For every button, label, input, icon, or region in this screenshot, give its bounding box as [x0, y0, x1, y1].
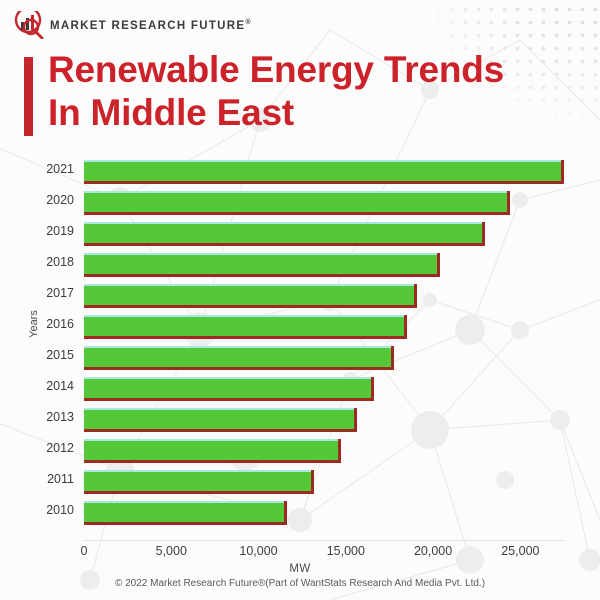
- y-tick-label-2013: 2013: [14, 410, 74, 424]
- bar-highlight-edge: [84, 160, 561, 162]
- bar-shadow-edge: [84, 398, 374, 401]
- bar-shadow-edge-right: [338, 439, 341, 463]
- bar-2011[interactable]: [84, 470, 311, 491]
- x-axis-line: [84, 540, 564, 541]
- bar-2015[interactable]: [84, 346, 391, 367]
- bar-fill: [84, 346, 391, 367]
- y-tick-label-2014: 2014: [14, 379, 74, 393]
- bar-highlight-edge: [84, 408, 354, 410]
- bar-2019[interactable]: [84, 222, 482, 243]
- brand-logo: MARKET RESEARCH FUTURE®: [14, 10, 252, 40]
- bar-highlight-edge: [84, 377, 371, 379]
- bar-fill: [84, 439, 338, 460]
- bar-shadow-edge-right: [391, 346, 394, 370]
- bar-shadow-edge: [84, 336, 407, 339]
- bar-2021[interactable]: [84, 160, 561, 181]
- bar-shadow-edge-right: [404, 315, 407, 339]
- copyright-footer: © 2022 Market Research Future®(Part of W…: [0, 578, 600, 589]
- y-tick-label-2010: 2010: [14, 503, 74, 517]
- registered-mark: ®: [245, 19, 251, 26]
- y-tick-label-2017: 2017: [14, 286, 74, 300]
- bar-shadow-edge-right: [414, 284, 417, 308]
- bar-fill: [84, 408, 354, 429]
- bar-highlight-edge: [84, 222, 482, 224]
- bar-highlight-edge: [84, 191, 507, 193]
- bar-shadow-edge: [84, 243, 485, 246]
- bar-shadow-edge-right: [371, 377, 374, 401]
- bar-shadow-edge: [84, 460, 341, 463]
- title-line-1: Renewable Energy Trends: [48, 48, 568, 91]
- bar-2012[interactable]: [84, 439, 338, 460]
- bar-shadow-edge: [84, 491, 314, 494]
- bar-shadow-edge-right: [482, 222, 485, 246]
- bar-2017[interactable]: [84, 284, 414, 305]
- bar-highlight-edge: [84, 501, 284, 503]
- bar-shadow-edge-right: [507, 191, 510, 215]
- x-tick-label-25000: 25,000: [480, 544, 560, 558]
- bar-highlight-edge: [84, 253, 437, 255]
- x-tick-label-5000: 5,000: [131, 544, 211, 558]
- x-tick-label-0: 0: [44, 544, 124, 558]
- bar-shadow-edge: [84, 274, 440, 277]
- y-tick-label-2012: 2012: [14, 441, 74, 455]
- y-tick-label-2011: 2011: [14, 472, 74, 486]
- bar-fill: [84, 315, 404, 336]
- bar-shadow-edge-right: [354, 408, 357, 432]
- bar-shadow-edge-right: [437, 253, 440, 277]
- y-tick-label-2016: 2016: [14, 317, 74, 331]
- bar-fill: [84, 284, 414, 305]
- bar-shadow-edge-right: [561, 160, 564, 184]
- title-accent-bar: [24, 57, 33, 136]
- x-tick-label-15000: 15,000: [306, 544, 386, 558]
- bar-2013[interactable]: [84, 408, 354, 429]
- y-tick-label-2021: 2021: [14, 162, 74, 176]
- bar-fill: [84, 377, 371, 398]
- brand-logo-name: MARKET RESEARCH FUTURE: [50, 19, 245, 31]
- bar-shadow-edge: [84, 212, 510, 215]
- y-tick-label-2015: 2015: [14, 348, 74, 362]
- bar-fill: [84, 222, 482, 243]
- bar-2018[interactable]: [84, 253, 437, 274]
- brand-logo-text: MARKET RESEARCH FUTURE®: [50, 19, 252, 32]
- bar-highlight-edge: [84, 470, 311, 472]
- bar-fill: [84, 253, 437, 274]
- bar-chart-magnifier-icon: [14, 11, 44, 39]
- bar-highlight-edge: [84, 315, 404, 317]
- y-tick-label-2018: 2018: [14, 255, 74, 269]
- bar-highlight-edge: [84, 346, 391, 348]
- bar-2010[interactable]: [84, 501, 284, 522]
- bar-highlight-edge: [84, 284, 414, 286]
- title-line-2: In Middle East: [48, 91, 568, 134]
- bar-shadow-edge: [84, 429, 357, 432]
- y-tick-label-2019: 2019: [14, 224, 74, 238]
- y-tick-label-2020: 2020: [14, 193, 74, 207]
- bar-fill: [84, 501, 284, 522]
- bar-shadow-edge: [84, 305, 417, 308]
- page-title: Renewable Energy Trends In Middle East: [48, 48, 568, 135]
- x-tick-label-20000: 20,000: [393, 544, 473, 558]
- bar-shadow-edge-right: [311, 470, 314, 494]
- bar-fill: [84, 470, 311, 491]
- plot-area: [84, 155, 564, 540]
- bar-2020[interactable]: [84, 191, 507, 212]
- bar-highlight-edge: [84, 439, 338, 441]
- bar-shadow-edge: [84, 181, 564, 184]
- bar-2014[interactable]: [84, 377, 371, 398]
- bar-fill: [84, 191, 507, 212]
- bar-fill: [84, 160, 561, 181]
- x-axis-label: MW: [0, 563, 600, 575]
- bar-shadow-edge-right: [284, 501, 287, 525]
- bar-shadow-edge: [84, 522, 287, 525]
- bar-shadow-edge: [84, 367, 394, 370]
- x-tick-label-10000: 10,000: [219, 544, 299, 558]
- bar-2016[interactable]: [84, 315, 404, 336]
